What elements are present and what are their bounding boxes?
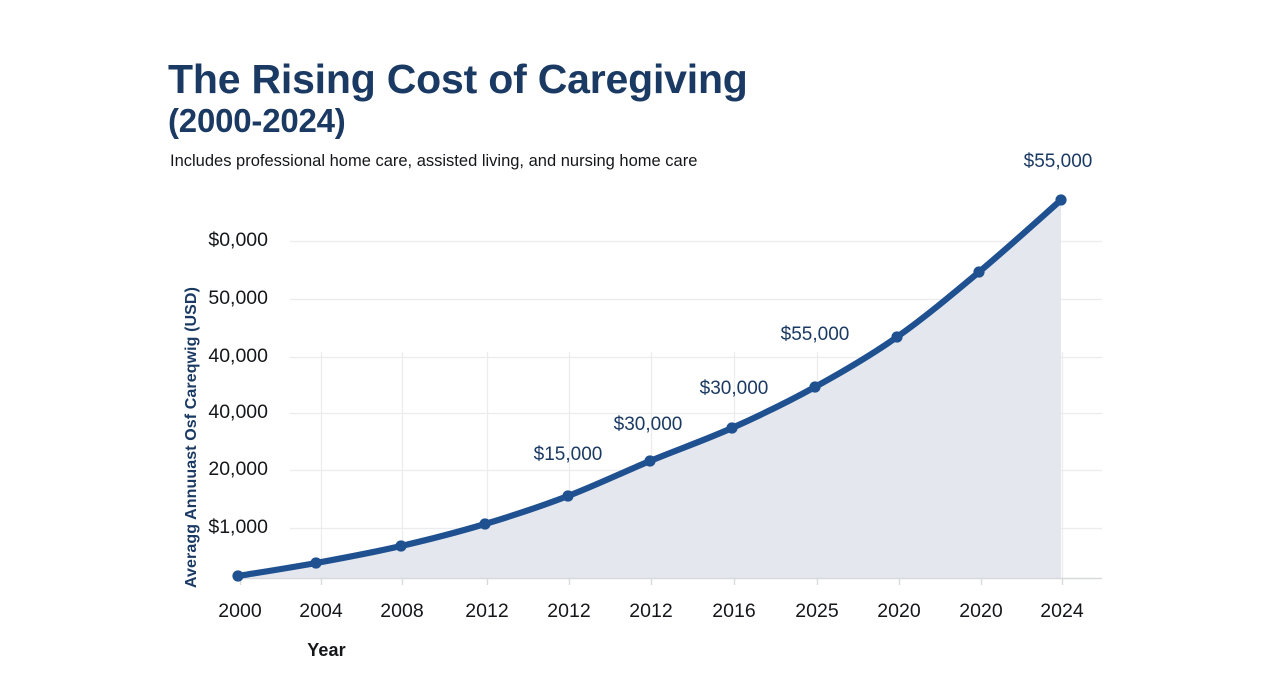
x-axis-title: Year bbox=[0, 640, 1280, 661]
data-point-marker[interactable] bbox=[644, 455, 655, 466]
area-fill bbox=[238, 200, 1061, 578]
data-point-value-label: $55,000 bbox=[983, 151, 1133, 173]
chart-page: The Rising Cost of Caregiving (2000-2024… bbox=[0, 0, 1280, 698]
y-axis-tick-label: 40,000 bbox=[158, 401, 268, 424]
y-axis-tick-label: $0,000 bbox=[158, 229, 268, 252]
data-point-marker[interactable] bbox=[395, 540, 406, 551]
y-axis-tick-label: 20,000 bbox=[158, 458, 268, 481]
data-point-value-label: $15,000 bbox=[493, 444, 643, 466]
data-point-marker[interactable] bbox=[310, 557, 321, 568]
y-axis-tick-label: $1,000 bbox=[158, 516, 268, 539]
data-point-value-label: $30,000 bbox=[573, 414, 723, 436]
data-point-marker[interactable] bbox=[562, 490, 573, 501]
plot-area: Averagg Annuuast Osf Careqwig (USD) Year… bbox=[0, 0, 1280, 698]
x-axis-tick-label: 2024 bbox=[1007, 600, 1117, 623]
y-axis-tick-label: 40,000 bbox=[158, 345, 268, 368]
y-axis-tick-label: 50,000 bbox=[158, 287, 268, 310]
data-point-marker[interactable] bbox=[479, 518, 490, 529]
data-point-marker[interactable] bbox=[891, 331, 902, 342]
data-point-value-label: $30,000 bbox=[659, 378, 809, 400]
data-point-marker[interactable] bbox=[1055, 194, 1066, 205]
data-point-marker[interactable] bbox=[726, 422, 737, 433]
data-point-marker[interactable] bbox=[973, 266, 984, 277]
y-axis-title: Averagg Annuuast Osf Careqwig (USD) bbox=[183, 287, 201, 588]
data-point-marker[interactable] bbox=[809, 381, 820, 392]
data-point-value-label: $55,000 bbox=[740, 324, 890, 346]
data-point-marker[interactable] bbox=[232, 570, 243, 581]
x-axis-title-text: Year bbox=[307, 640, 345, 660]
